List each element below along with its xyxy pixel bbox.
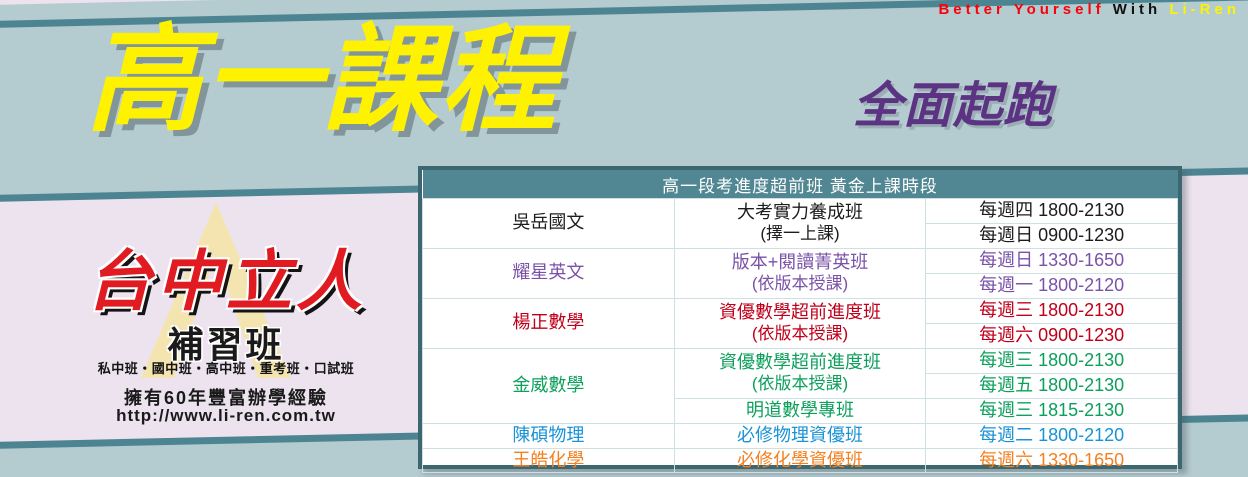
cell-course: 資優數學超前進度班(依版本授課) (674, 348, 926, 398)
cell-teacher: 陳碩物理 (423, 423, 675, 448)
promo-banner: Better Yourself With Li-Ren 高一課程 全面起跑 台中… (0, 0, 1248, 477)
cell-teacher: 王皓化學 (423, 448, 675, 473)
cell-course-note: (依版本授課) (677, 374, 924, 395)
cell-course-note: (依版本授課) (677, 324, 924, 345)
logo-class-tags: 私中班・國中班・高中班・重考班・口試班 (46, 358, 406, 377)
table-row: 耀星英文版本+閱讀菁英班(依版本授課)每週日 1330-1650 (423, 248, 1178, 273)
table-row: 楊正數學資優數學超前進度班(依版本授課)每週三 1800-2130 (423, 298, 1178, 323)
cell-course-note: (依版本授課) (677, 274, 924, 295)
table-row: 金威數學資優數學超前進度班(依版本授課)每週三 1800-2130 (423, 348, 1178, 373)
cell-teacher: 金威數學 (423, 348, 675, 423)
tagline-black: With (1113, 1, 1161, 18)
schedule-table-card: 高一段考進度超前班 黃金上課時段 吳岳國文大考實力養成班(擇一上課)每週四 18… (418, 166, 1182, 469)
table-row: 王皓化學必修化學資優班每週六 1330-1650 (423, 448, 1178, 473)
table-header-title: 高一段考進度超前班 黃金上課時段 (423, 170, 1178, 199)
cell-time: 每週日 1330-1650 (926, 248, 1178, 273)
tagline-red: Better Yourself (938, 1, 1104, 18)
table-row: 吳岳國文大考實力養成班(擇一上課)每週四 1800-2130 (423, 199, 1178, 224)
cell-teacher: 楊正數學 (423, 298, 675, 348)
cell-course: 版本+閱讀菁英班(依版本授課) (674, 248, 926, 298)
sub-title: 全面起跑 (853, 66, 1053, 137)
cell-time: 每週三 1815-2130 (926, 398, 1178, 423)
cell-time: 每週二 1800-2120 (926, 423, 1178, 448)
cell-time: 每週六 0900-1230 (926, 323, 1178, 348)
table-row: 陳碩物理必修物理資優班每週二 1800-2120 (423, 423, 1178, 448)
cell-teacher: 耀星英文 (423, 248, 675, 298)
cell-course: 大考實力養成班(擇一上課) (674, 199, 926, 249)
cell-time: 每週一 1800-2120 (926, 273, 1178, 298)
logo-website-url[interactable]: http://www.li-ren.com.tw (46, 406, 406, 426)
cell-course-note: (擇一上課) (677, 224, 924, 245)
schedule-table: 高一段考進度超前班 黃金上課時段 吳岳國文大考實力養成班(擇一上課)每週四 18… (422, 170, 1178, 473)
school-logo: 台中立人 補習班 私中班・國中班・高中班・重考班・口試班 擁有60年豐富辦學經驗… (46, 206, 406, 436)
main-title: 高一課程 (86, 18, 558, 143)
cell-course: 必修物理資優班 (674, 423, 926, 448)
cell-time: 每週日 0900-1230 (926, 223, 1178, 248)
logo-name: 台中立人 (46, 228, 406, 324)
cell-time: 每週五 1800-2130 (926, 373, 1178, 398)
cell-time: 每週六 1330-1650 (926, 448, 1178, 473)
cell-course: 必修化學資優班 (674, 448, 926, 473)
cell-time: 每週三 1800-2130 (926, 348, 1178, 373)
cell-course-secondary: 明道數學專班 (674, 398, 926, 423)
table-header-row: 高一段考進度超前班 黃金上課時段 (423, 170, 1178, 199)
cell-time: 每週四 1800-2130 (926, 199, 1178, 224)
tagline-yellow: Li-Ren (1169, 1, 1240, 18)
cell-time: 每週三 1800-2130 (926, 298, 1178, 323)
cell-course: 資優數學超前進度班(依版本授課) (674, 298, 926, 348)
cell-teacher: 吳岳國文 (423, 199, 675, 249)
